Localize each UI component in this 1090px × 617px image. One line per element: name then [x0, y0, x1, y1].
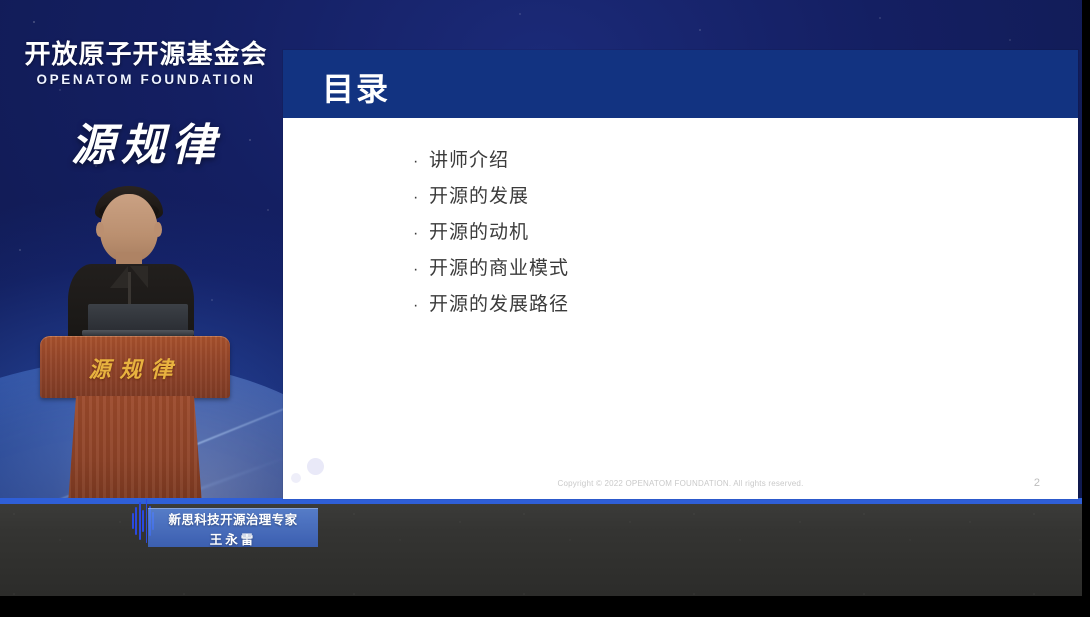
list-item: · 开源的发展路径: [413, 289, 569, 325]
speaker-role: 新思科技开源治理专家: [168, 509, 297, 528]
list-item-label: 开源的发展路径: [429, 289, 569, 316]
bullet-icon: ·: [413, 151, 429, 173]
presenter-collar-left: [110, 266, 128, 288]
list-item-label: 开源的发展: [429, 181, 529, 208]
decorative-circle-large: [307, 458, 324, 475]
logo-name-cn: 开放原子开源基金会: [20, 40, 272, 69]
list-item: · 开源的发展: [413, 181, 569, 217]
list-item: · 开源的动机: [413, 217, 569, 253]
podium-body: [68, 396, 202, 504]
bullet-icon: ·: [413, 295, 429, 317]
list-item-label: 开源的商业模式: [429, 253, 569, 280]
speaker-name-caption: 新思科技开源治理专家 王永雷: [148, 508, 318, 547]
table-of-contents-list: · 讲师介绍 · 开源的发展 · 开源的动机 · 开源的商业模式 · 开源的: [413, 145, 569, 325]
podium-top-panel: 源规律: [40, 336, 230, 398]
letterbox-border-bottom: [0, 596, 1090, 617]
presenter-shirt-placket: [128, 272, 131, 306]
slide-header-bar: 目录: [283, 50, 1078, 118]
bullet-icon: ·: [413, 187, 429, 209]
podium-calligraphy: 源规律: [40, 352, 230, 384]
list-item: · 讲师介绍: [413, 145, 569, 181]
slide-title: 目录: [322, 64, 390, 110]
slide-page-number: 2: [1034, 477, 1040, 489]
list-item-label: 讲师介绍: [429, 145, 509, 172]
bullet-icon: ·: [413, 259, 429, 281]
presenter-collar-right: [130, 266, 148, 288]
slide-content-area: · 讲师介绍 · 开源的发展 · 开源的动机 · 开源的商业模式 · 开源的: [283, 118, 1078, 499]
slide-copyright: Copyright © 2022 OPENATOM FOUNDATION. Al…: [283, 479, 1078, 488]
foundation-logo: 开放原子开源基金会 OPENATOM FOUNDATION 源规律: [20, 40, 272, 173]
logo-calligraphy: 源规律: [20, 109, 272, 173]
logo-name-en: OPENATOM FOUNDATION: [20, 72, 272, 87]
presenter-ear-left: [96, 222, 104, 237]
laptop-screen: [88, 304, 188, 332]
list-item-label: 开源的动机: [429, 217, 529, 244]
presenter-ear-right: [154, 222, 162, 237]
speaker-name: 王永雷: [210, 529, 257, 548]
list-item: · 开源的商业模式: [413, 253, 569, 289]
video-frame: 开放原子开源基金会 OPENATOM FOUNDATION 源规律 源规律 OP…: [0, 0, 1090, 617]
presentation-slide: 目录 · 讲师介绍 · 开源的发展 · 开源的动机 · 开源的商业模式: [283, 50, 1078, 499]
letterbox-border-right: [1082, 0, 1090, 617]
bullet-icon: ·: [413, 223, 429, 245]
